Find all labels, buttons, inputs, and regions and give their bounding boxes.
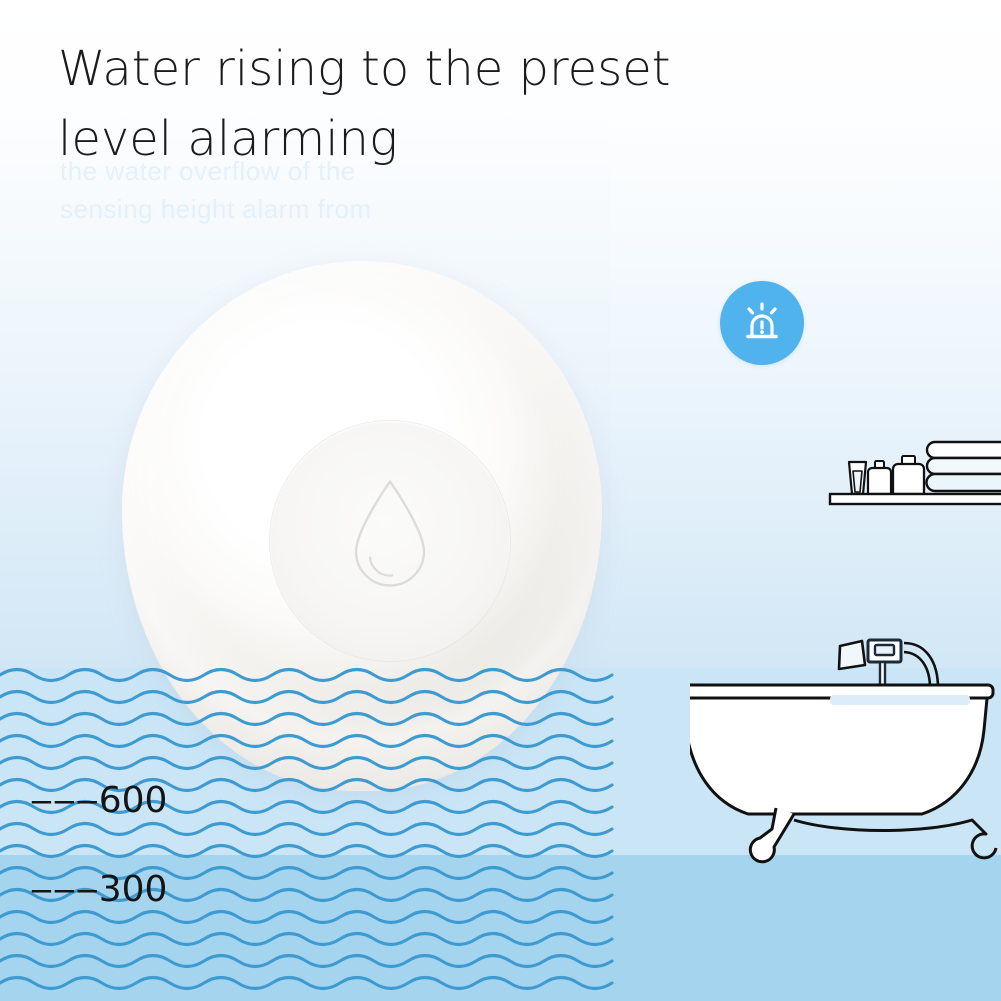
- page-title: Water rising to the preset level alarmin…: [58, 34, 838, 174]
- level-marker-300: ‒‒‒300: [30, 869, 167, 910]
- bathroom-scene: [690, 430, 1001, 870]
- alarm-status-badge[interactable]: [720, 281, 804, 365]
- shampoo-bottle-icon: [893, 456, 924, 494]
- clawfoot-bathtub: [690, 685, 996, 862]
- pump-bottle-icon: [868, 461, 891, 494]
- water-drop-icon: [344, 474, 436, 599]
- product-illustration-canvas: the water overflow of the sensing height…: [0, 0, 1001, 1001]
- alarm-siren-icon: [738, 299, 786, 347]
- bathroom-shelf: [830, 442, 1001, 504]
- shelf-board: [830, 494, 1001, 504]
- faucet-with-shower-hose: [839, 640, 938, 688]
- level-marker-600: ‒‒‒600: [30, 780, 167, 821]
- sensor-button[interactable]: [270, 421, 510, 661]
- water-waves: [0, 665, 620, 1001]
- tube-bottle-icon: [849, 462, 866, 494]
- folded-towels-icon: [927, 442, 1001, 491]
